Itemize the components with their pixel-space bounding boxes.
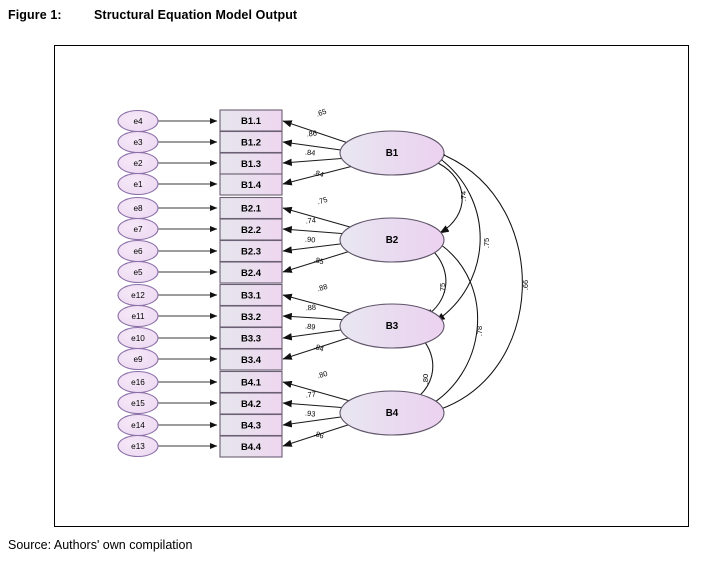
sem-diagram: B1.1 B1.2 B1.3 B1.4 B2.1 B2.2 [0, 0, 716, 565]
error-label: e10 [131, 334, 145, 343]
latent-variables: B1 B2 B3 B4 [340, 131, 444, 435]
indicator-b1-4: B1.4 [220, 174, 282, 195]
error-label: e12 [131, 291, 145, 300]
error-e3: e3 [118, 132, 158, 153]
indicator-b2-4: B2.4 [220, 262, 282, 283]
indicator-label: B4.2 [241, 399, 261, 410]
indicator-boxes: B1.1 B1.2 B1.3 B1.4 B2.1 B2.2 [220, 110, 282, 457]
indicator-label: B4.3 [241, 421, 261, 432]
latent-label: B2 [386, 235, 399, 246]
latent-b3: B3 [340, 304, 444, 348]
indicator-label: B2.4 [241, 268, 262, 279]
error-label: e5 [133, 268, 143, 277]
error-e10: e10 [118, 328, 158, 349]
indicator-label: B2.3 [241, 247, 261, 258]
indicator-b2-1: B2.1 [220, 198, 282, 219]
indicator-b3-3: B3.3 [220, 328, 282, 349]
error-label: e16 [131, 378, 145, 387]
error-e14: e14 [118, 415, 158, 436]
error-e7: e7 [118, 219, 158, 240]
indicator-label: B1.1 [241, 116, 262, 127]
loading-value: .75 [316, 195, 328, 206]
latent-b1: B1 [340, 131, 444, 175]
error-label: e9 [133, 355, 143, 364]
latent-label: B3 [386, 321, 399, 332]
error-terms: e4 e3 e2 e1 e8 e7 [118, 111, 158, 457]
error-e6: e6 [118, 241, 158, 262]
error-label: e8 [133, 204, 143, 213]
covariance-value: .75 [482, 238, 491, 248]
indicator-label: B1.4 [241, 180, 262, 191]
loading-value: .80 [316, 369, 328, 380]
indicator-label: B2.1 [241, 204, 262, 215]
figure-page: Figure 1:Structural Equation Model Outpu… [0, 0, 716, 565]
error-label: e11 [131, 312, 144, 321]
loading-value: .77 [305, 390, 316, 400]
latent-label: B4 [386, 408, 399, 419]
indicator-b3-4: B3.4 [220, 349, 282, 370]
covariance-value: .78 [475, 326, 484, 336]
error-e16: e16 [118, 372, 158, 393]
error-e15: e15 [118, 393, 158, 414]
error-e4: e4 [118, 111, 158, 132]
indicator-b3-1: B3.1 [220, 285, 282, 306]
indicator-b4-1: B4.1 [220, 372, 282, 393]
indicator-label: B4.1 [241, 378, 262, 389]
error-e9: e9 [118, 349, 158, 370]
loading-value: .65 [315, 107, 328, 119]
indicator-label: B3.2 [241, 312, 261, 323]
indicator-b2-2: B2.2 [220, 219, 282, 240]
error-label: e1 [133, 180, 143, 189]
indicator-label: B3.1 [241, 291, 262, 302]
error-label: e15 [131, 399, 145, 408]
error-e12: e12 [118, 285, 158, 306]
error-label: e13 [131, 442, 145, 451]
loading-value: .88 [316, 282, 328, 293]
indicator-b3-2: B3.2 [220, 306, 282, 327]
indicator-b1-3: B1.3 [220, 153, 282, 174]
covariance-value: .66 [521, 280, 530, 290]
error-e11: e11 [118, 306, 158, 327]
error-label: e6 [133, 247, 143, 256]
indicator-label: B2.2 [241, 225, 261, 236]
indicator-b2-3: B2.3 [220, 241, 282, 262]
indicator-b4-4: B4.4 [220, 436, 282, 457]
loading-value: .88 [305, 303, 316, 313]
error-e5: e5 [118, 262, 158, 283]
error-label: e2 [133, 159, 143, 168]
latent-label: B1 [386, 148, 399, 159]
indicator-b1-1: B1.1 [220, 110, 282, 131]
error-e2: e2 [118, 153, 158, 174]
error-label: e3 [133, 138, 143, 147]
error-label: e14 [131, 421, 145, 430]
indicator-label: B1.2 [241, 138, 261, 149]
error-e8: e8 [118, 198, 158, 219]
indicator-label: B1.3 [241, 159, 261, 170]
indicator-b4-3: B4.3 [220, 415, 282, 436]
loading-value: .84 [305, 148, 316, 158]
covariance-value: .75 [438, 283, 447, 293]
loading-labels: .65 .86 .84 .84 .75 .74 .90 .85 .88 .88 … [305, 107, 329, 441]
error-e13: e13 [118, 436, 158, 457]
indicator-label: B3.3 [241, 334, 261, 345]
error-e1: e1 [118, 174, 158, 195]
loading-value: .86 [306, 129, 317, 139]
covariance-value: .80 [421, 374, 430, 384]
loading-value: .74 [305, 216, 316, 226]
indicator-b4-2: B4.2 [220, 393, 282, 414]
indicator-label: B3.4 [241, 355, 262, 366]
error-to-indicator-edges [158, 121, 217, 446]
indicator-label: B4.4 [241, 442, 262, 453]
covariance-value: .74 [459, 191, 468, 201]
loading-value: .84 [313, 168, 325, 179]
loading-value: .89 [305, 321, 316, 331]
latent-b2: B2 [340, 218, 444, 262]
error-label: e7 [133, 225, 143, 234]
source-note: Source: Authors' own compilation [8, 538, 192, 552]
covariance-labels: .74 .75 .80 .75 .78 .66 [421, 191, 530, 384]
loading-value: .85 [312, 255, 324, 267]
indicator-b1-2: B1.2 [220, 132, 282, 153]
latent-b4: B4 [340, 391, 444, 435]
error-label: e4 [133, 117, 143, 126]
loading-value: .84 [312, 342, 325, 354]
loading-value: .93 [305, 408, 316, 418]
loading-value: .86 [312, 429, 325, 441]
loading-value: .90 [305, 235, 316, 245]
